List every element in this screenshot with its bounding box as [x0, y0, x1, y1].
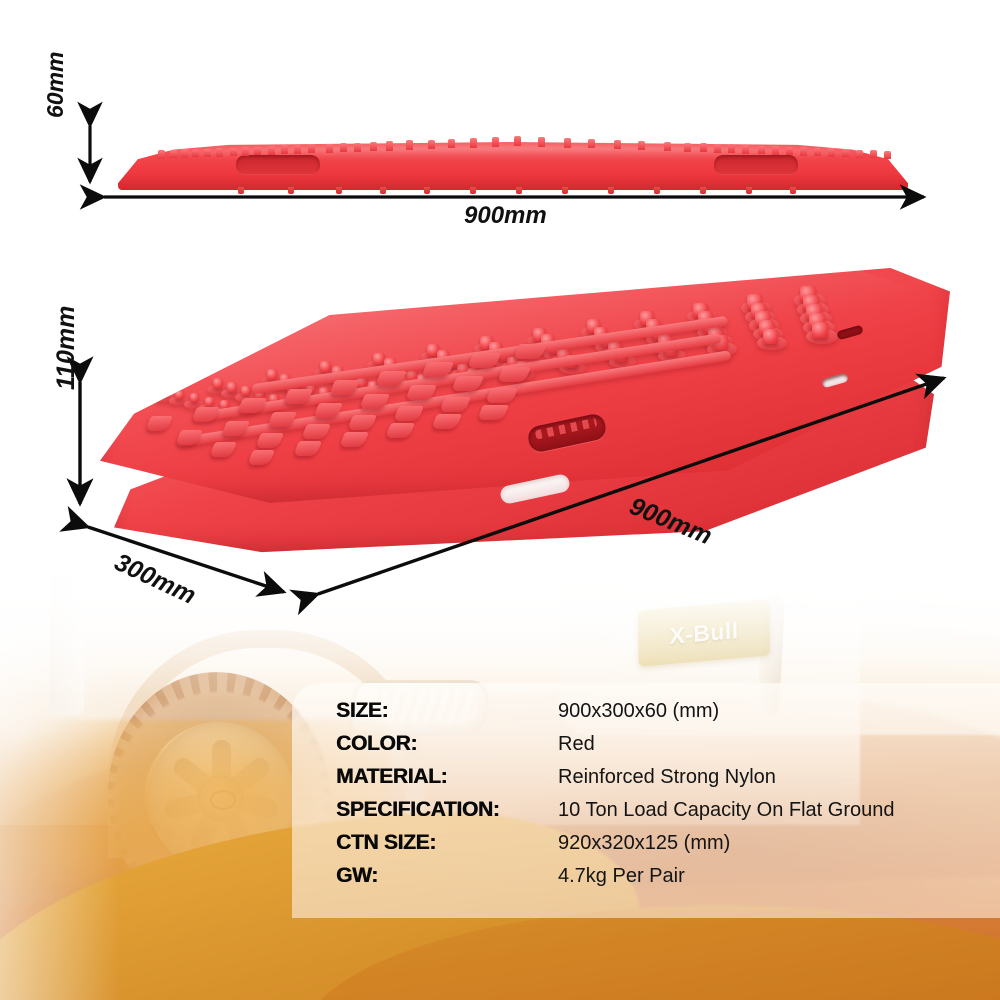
side-view-bottom-cleat	[790, 187, 796, 194]
spec-value: 4.7kg Per Pair	[558, 865, 685, 888]
spec-label: SIZE:	[336, 699, 558, 723]
side-view-bottom-cleat	[746, 187, 752, 194]
specification-panel: SIZE:900x300x60 (mm)COLOR:RedMATERIAL:Re…	[292, 683, 1000, 918]
side-view-stud	[588, 139, 595, 149]
dimension-label-stack-height: 110mm	[52, 306, 81, 390]
side-view-stud	[406, 140, 413, 149]
side-view-stud	[428, 140, 435, 150]
board-stud	[175, 390, 184, 399]
photo-fade-left-overlay	[0, 548, 120, 1000]
side-view-stud	[268, 146, 275, 155]
side-view-bottom-cleat	[470, 187, 476, 194]
side-view-stud	[538, 137, 545, 147]
board-cleat	[431, 414, 462, 429]
dimension-label-thickness: 60mm	[42, 52, 69, 118]
side-view-bottom-cleat	[700, 187, 706, 194]
side-view-bottom-cleat	[336, 187, 342, 194]
board-stud	[227, 382, 237, 392]
board-cleat	[477, 405, 509, 420]
board-cleat	[339, 432, 369, 447]
side-view-stud	[638, 141, 645, 150]
board-cleat	[485, 388, 518, 403]
spec-label: COLOR:	[336, 732, 558, 756]
dimension-label-length-top: 900mm	[464, 202, 547, 230]
side-view-stud	[242, 147, 249, 156]
side-view-stud	[340, 143, 347, 152]
board-cleat	[439, 397, 471, 412]
side-view-stud	[492, 137, 499, 147]
side-view-stud	[758, 146, 765, 155]
spec-row: MATERIAL:Reinforced Strong Nylon	[336, 765, 976, 798]
side-view-stud	[281, 145, 288, 154]
board-cleat	[145, 416, 173, 431]
side-view-stud	[828, 148, 835, 156]
spec-value: 900x300x60 (mm)	[558, 700, 719, 723]
side-view-stud	[448, 139, 455, 149]
board-cleat	[293, 441, 322, 456]
side-view-stud	[728, 144, 735, 153]
side-view-stud	[772, 146, 779, 155]
board-cleat	[191, 407, 220, 422]
side-view-stud	[170, 150, 177, 158]
side-view-stud	[742, 145, 749, 154]
side-view-stud	[230, 148, 237, 157]
side-view-stud	[204, 149, 211, 157]
side-view-bottom-cleat	[238, 187, 244, 194]
board-stud	[205, 397, 214, 406]
spec-row: GW:4.7kg Per Pair	[336, 864, 976, 897]
side-view-stud	[714, 144, 721, 153]
side-view-stud	[564, 138, 571, 148]
side-view-stud	[294, 145, 301, 154]
spec-label: GW:	[336, 864, 558, 888]
spec-label: MATERIAL:	[336, 765, 558, 789]
spec-row: COLOR:Red	[336, 732, 976, 765]
spec-value: 920x320x125 (mm)	[558, 832, 730, 855]
board-cleat	[347, 415, 377, 430]
board-cleat	[497, 367, 531, 382]
side-view-stud	[216, 148, 223, 156]
board-stud	[373, 353, 385, 365]
side-view-bottom-cleat	[562, 187, 568, 194]
spec-row: SIZE:900x300x60 (mm)	[336, 699, 976, 732]
side-view-stud	[700, 143, 707, 152]
spec-value: Reinforced Strong Nylon	[558, 766, 776, 789]
side-view-stud	[884, 151, 891, 159]
board-stud	[241, 386, 251, 396]
spec-label: CTN SIZE:	[336, 831, 558, 855]
side-view-stud	[856, 150, 863, 158]
side-view-stud	[684, 143, 691, 152]
board-stud	[763, 329, 778, 344]
board-cleat	[393, 406, 424, 421]
side-view-stud	[192, 149, 199, 157]
side-view-stud	[786, 147, 793, 156]
spec-value: Red	[558, 733, 595, 756]
side-view-bottom-cleat	[608, 187, 614, 194]
board-cleat	[247, 450, 275, 465]
side-handle-slot-right	[714, 155, 798, 175]
side-view-stud	[514, 136, 521, 146]
spec-row: SPECIFICATION:10 Ton Load Capacity On Fl…	[336, 798, 976, 831]
side-view-stud	[814, 148, 821, 157]
side-view-stud	[870, 150, 877, 158]
side-view-stud	[386, 141, 393, 150]
side-view-bottom-cleat	[380, 187, 386, 194]
spec-label: SPECIFICATION:	[336, 798, 558, 822]
side-view-stud	[308, 144, 315, 153]
board-stud	[320, 361, 331, 372]
side-view-stud	[664, 142, 671, 151]
board-cleat	[301, 424, 331, 439]
traction-board-side-view	[118, 134, 908, 190]
side-view-stud	[181, 149, 188, 157]
side-view-stud	[326, 144, 333, 153]
board-cleat	[255, 433, 284, 448]
board-cleat	[385, 423, 415, 438]
side-view-bottom-cleat	[288, 187, 294, 194]
side-view-stud	[354, 143, 361, 152]
board-cleat	[209, 442, 237, 457]
side-view-stud	[614, 140, 621, 150]
side-handle-slot-left	[236, 155, 320, 175]
product-infographic: X-Bull	[0, 0, 1000, 1000]
side-view-stud	[470, 138, 477, 148]
side-view-stud	[158, 150, 165, 158]
board-stud	[267, 369, 277, 379]
board-stud	[190, 393, 199, 402]
board-stud	[160, 386, 169, 395]
side-view-bottom-cleat	[424, 187, 430, 194]
side-view-stud	[370, 142, 377, 151]
spec-row: CTN SIZE:920x320x125 (mm)	[336, 831, 976, 864]
side-view-bottom-cleat	[654, 187, 660, 194]
board-cleat	[451, 376, 484, 391]
side-view-bottom-cleat	[516, 187, 522, 194]
board-stud	[812, 322, 828, 338]
side-view-stud	[254, 147, 261, 156]
traction-board-pair-3d	[80, 268, 960, 568]
spec-value: 10 Ton Load Capacity On Flat Ground	[558, 799, 895, 822]
board-stud	[213, 378, 223, 388]
side-view-stud	[842, 149, 849, 157]
side-view-stud	[800, 147, 807, 156]
specification-list: SIZE:900x300x60 (mm)COLOR:RedMATERIAL:Re…	[336, 699, 976, 897]
